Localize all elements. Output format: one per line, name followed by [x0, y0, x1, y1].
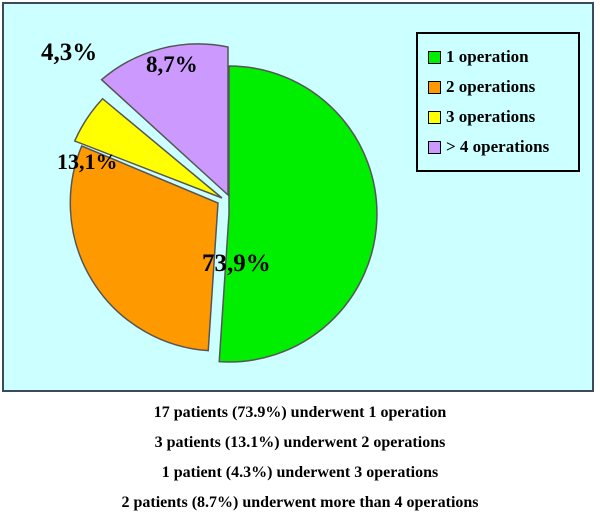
chart-panel: 73,9% 13,1% 4,3% 8,7% 1 operation 2 oper… [2, 2, 594, 392]
pie-label-1-operation: 73,9% [202, 251, 271, 276]
legend: 1 operation 2 operations 3 operations > … [416, 32, 580, 172]
caption-block: 17 patients (73.9%) underwent 1 operatio… [0, 398, 600, 527]
caption-line: 1 patient (4.3%) underwent 3 operations [0, 458, 600, 488]
legend-item-2-operations[interactable]: 2 operations [428, 72, 568, 102]
legend-item-more-than-4-operations[interactable]: > 4 operations [428, 132, 568, 162]
legend-item-label: 1 operation [446, 47, 529, 67]
legend-swatch-icon [428, 51, 441, 64]
pie-label-2-operations: 13,1% [57, 151, 118, 173]
legend-item-label: 2 operations [446, 77, 535, 97]
legend-swatch-icon [428, 111, 441, 124]
legend-item-label: > 4 operations [446, 137, 549, 157]
caption-line: 3 patients (13.1%) underwent 2 operation… [0, 428, 600, 458]
pie-label-more-than-4-operations: 8,7% [146, 53, 198, 76]
legend-item-3-operations[interactable]: 3 operations [428, 102, 568, 132]
legend-swatch-icon [428, 141, 441, 154]
caption-line: 2 patients (8.7%) underwent more than 4 … [0, 488, 600, 518]
legend-item-label: 3 operations [446, 107, 535, 127]
legend-item-1-operation[interactable]: 1 operation [428, 42, 568, 72]
pie-label-3-operations: 4,3% [41, 40, 97, 65]
caption-line: 17 patients (73.9%) underwent 1 operatio… [0, 398, 600, 428]
legend-swatch-icon [428, 81, 441, 94]
pie-slice-1-operation[interactable] [219, 66, 377, 362]
